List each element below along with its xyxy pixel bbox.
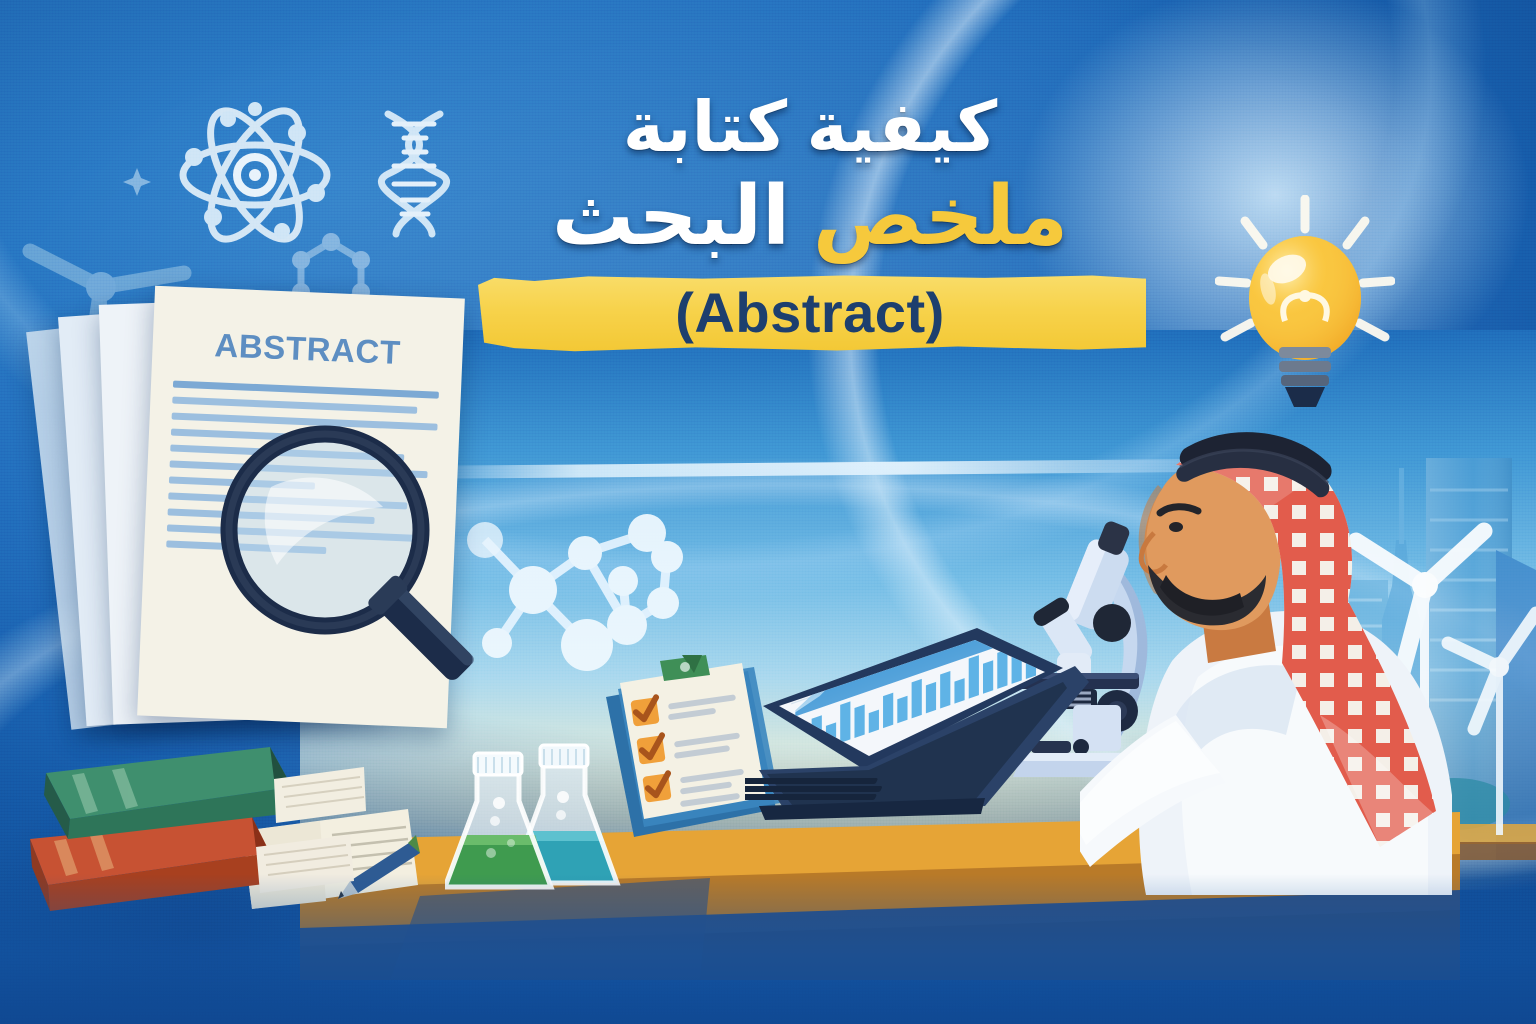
laptop[interactable] xyxy=(745,610,1095,880)
abstract-badge: (Abstract) xyxy=(474,274,1146,352)
banner-canvas: ABSTRACT xyxy=(0,0,1536,1024)
banner-title-block: كيفية كتابة ملخص البحث (Abstract) xyxy=(430,92,1190,352)
title-rest-word: البحث xyxy=(552,171,790,262)
magnifier-icon xyxy=(215,425,535,725)
title-highlight-word: ملخص xyxy=(813,171,1068,262)
title-line-2: ملخص البحث xyxy=(430,176,1190,258)
book-stack xyxy=(20,735,420,925)
lightbulb-icon xyxy=(1215,195,1395,425)
researcher-illustration xyxy=(1080,415,1500,895)
abstract-heading: ABSTRACT xyxy=(174,325,441,374)
text-line xyxy=(173,381,439,399)
title-line-1: كيفية كتابة xyxy=(430,92,1190,162)
abstract-badge-label: (Abstract) xyxy=(675,285,944,341)
text-line xyxy=(172,397,417,414)
